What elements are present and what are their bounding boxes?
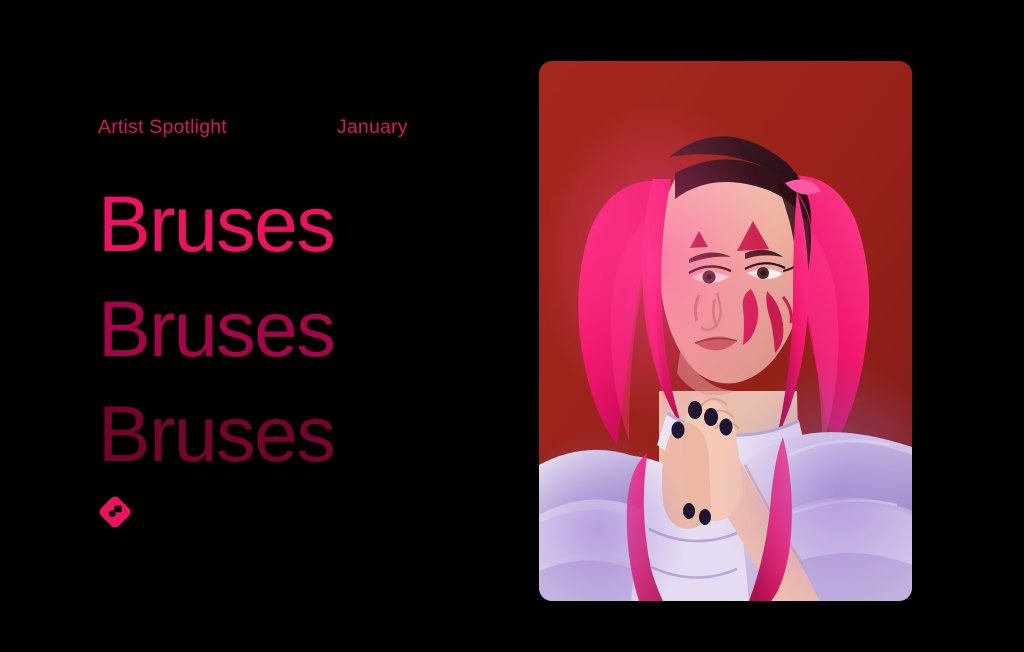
headline-stack: Bruses Bruses Bruses: [98, 171, 334, 486]
artist-photo-card[interactable]: [539, 61, 912, 601]
meta-row: Artist Spotlight January: [98, 118, 408, 138]
category-label: Artist Spotlight: [98, 118, 227, 138]
poster-canvas: Artist Spotlight January Bruses Bruses B…: [0, 0, 1024, 652]
artist-portrait-image: [539, 61, 912, 601]
headline-line-3: Bruses: [98, 381, 334, 486]
headline-line-2: Bruses: [98, 276, 334, 381]
issue-label: January: [337, 118, 408, 138]
headline-line-1: Bruses: [98, 171, 334, 276]
diamond-logo-icon[interactable]: [97, 494, 133, 530]
